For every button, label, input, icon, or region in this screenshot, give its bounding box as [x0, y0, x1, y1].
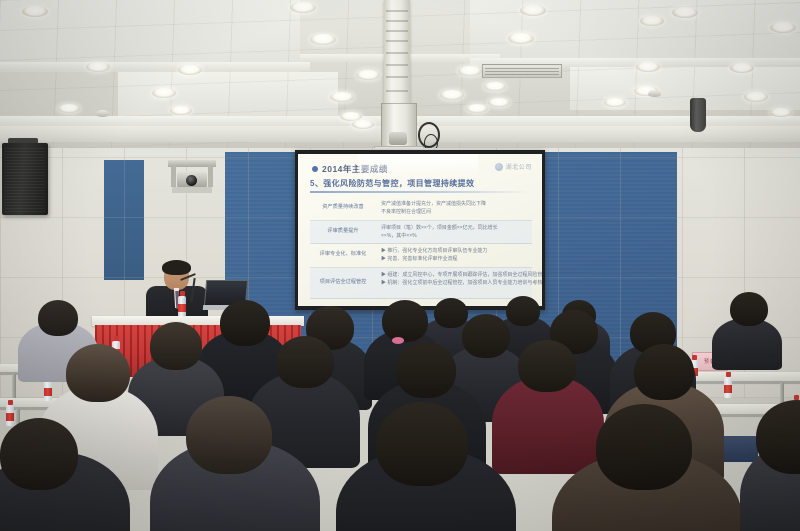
ceiling	[0, 0, 800, 152]
ceiling-downlight	[488, 98, 510, 107]
table-row: 项目评估全过程管控 ▶ 组建：成立风控中心，专项开展项目跟踪评估，加强项目全过程…	[310, 268, 532, 299]
audience-head	[186, 396, 272, 474]
ceiling-downlight	[730, 63, 754, 73]
ceiling-downlight	[770, 22, 796, 33]
row-line: ××%，其中××%	[381, 232, 530, 240]
ceiling-downlight	[640, 16, 664, 26]
smoke-detector-icon	[96, 110, 109, 117]
row-label: 项目评估全过程管控	[310, 268, 377, 298]
row-content: ▶ 组建：成立风控中心，专项开展项目跟踪评估，加强项目全过程风险管控，推进项目后…	[377, 268, 542, 298]
ceiling-dome-speaker	[690, 98, 706, 132]
audience-head	[220, 300, 270, 346]
audience-head	[596, 404, 692, 490]
row-line: 不良率控制在合理区间	[381, 208, 530, 216]
ceiling-downlight	[770, 108, 792, 117]
row-label: 评审质量提升	[310, 221, 377, 244]
row-line: ▶ 组建：成立风控中心，专项开展项目跟踪评估，加强项目全过程风险管控，推进项目后…	[381, 271, 542, 279]
ceiling-downlight	[440, 90, 464, 100]
hair-clip-icon	[392, 337, 404, 344]
ceiling-downlight	[356, 70, 380, 80]
audience-head	[276, 336, 334, 388]
ceiling-downlight	[170, 106, 192, 115]
ceiling-ptz-camera	[168, 160, 216, 194]
slide-divider	[310, 191, 530, 193]
slide-logo: 湖北公司	[495, 162, 532, 171]
audience-head	[376, 402, 468, 486]
audience-head	[730, 292, 768, 326]
presenter	[146, 262, 208, 320]
row-label: 资产质量持续改善	[310, 197, 377, 220]
row-line: ▶ 机制：强化立项前中后全过程管控，加强项目人员专业能力培训与考核评价	[381, 279, 542, 287]
ceiling-downlight	[352, 120, 374, 129]
ceiling-downlight	[520, 5, 546, 16]
audience-head	[462, 314, 510, 358]
ceiling-downlight	[152, 88, 176, 98]
slide-logo-text: 湖北公司	[506, 162, 532, 171]
audience-head	[150, 322, 202, 370]
company-logo-icon	[495, 163, 503, 171]
ceiling-downlight	[22, 6, 48, 17]
ceiling-downlight	[466, 104, 488, 113]
row-content: ▶ 推行、强化专业化方向项目评审队伍专业能力 ▶ 完善、完善标准化评审作业流程	[377, 244, 532, 267]
ceiling-downlight	[290, 2, 316, 13]
row-label: 评审专业化、标准化	[310, 244, 377, 267]
table-row: 资产质量持续改善 资产减值准备计提充分，资产减值损失同比下降 不良率控制在合理区…	[310, 197, 532, 221]
audience-head	[506, 296, 540, 326]
water-bottle	[724, 372, 732, 398]
camera-lens-icon	[186, 175, 197, 186]
projector-lens-icon	[389, 132, 407, 145]
row-content: 评审项目（笔）数××个，项目金额××亿元，同比增长 ××%，其中××%	[377, 221, 532, 244]
ceiling-downlight	[58, 104, 80, 113]
audience-head	[518, 340, 576, 392]
ceiling-downlight	[330, 92, 354, 102]
ceiling-downlight	[636, 62, 660, 72]
audience-head	[434, 298, 468, 328]
projection-screen-frame: 2014年主要成绩 湖北公司 5、强化风险防范与管控，项目管理持续提效 资产质量…	[295, 150, 545, 310]
audience-head	[634, 344, 694, 400]
row-line: 资产减值准备计提充分，资产减值损失同比下降	[381, 200, 530, 208]
ceiling-downlight	[484, 82, 506, 91]
water-bottle	[178, 291, 186, 317]
ceiling-air-vent	[482, 64, 562, 78]
audience-head	[38, 300, 78, 336]
projector-mount-column	[384, 0, 410, 108]
ceiling-downlight	[672, 7, 698, 18]
audience-head	[66, 344, 130, 402]
table-row: 评审质量提升 评审项目（笔）数××个，项目金额××亿元，同比增长 ××%，其中×…	[310, 221, 532, 245]
screen-glare	[358, 154, 478, 180]
ceiling-downlight	[604, 98, 626, 107]
ceiling-downlight	[744, 92, 768, 102]
wall-mounted-loudspeaker	[2, 143, 48, 215]
ceiling-downlight	[310, 34, 336, 45]
row-line: ▶ 推行、强化专业化方向项目评审队伍专业能力	[381, 247, 530, 255]
audience-head	[396, 342, 456, 398]
conference-photo-scene: 2014年主要成绩 湖北公司 5、强化风险防范与管控，项目管理持续提效 资产质量…	[0, 0, 800, 531]
bullet-icon	[312, 166, 318, 172]
row-line: ▶ 完善、完善标准化评审作业流程	[381, 255, 530, 263]
water-bottle	[6, 400, 14, 426]
ceiling-downlight	[458, 66, 482, 76]
smoke-detector-icon	[648, 90, 661, 97]
row-content: 资产减值准备计提充分，资产减值损失同比下降 不良率控制在合理区间	[377, 197, 532, 220]
row-line: 评审项目（笔）数××个，项目金额××亿元，同比增长	[381, 224, 530, 232]
slide-table: 资产质量持续改善 资产减值准备计提充分，资产减值损失同比下降 不良率控制在合理区…	[310, 197, 532, 299]
audience-head	[382, 300, 428, 342]
ceiling-downlight	[86, 62, 110, 72]
audience-head	[0, 418, 78, 490]
projection-screen: 2014年主要成绩 湖北公司 5、强化风险防范与管控，项目管理持续提效 资产质量…	[298, 154, 542, 306]
ceiling-downlight	[178, 65, 202, 75]
table-row: 评审专业化、标准化 ▶ 推行、强化专业化方向项目评审队伍专业能力 ▶ 完善、完善…	[310, 244, 532, 268]
ceiling-downlight	[508, 33, 534, 44]
